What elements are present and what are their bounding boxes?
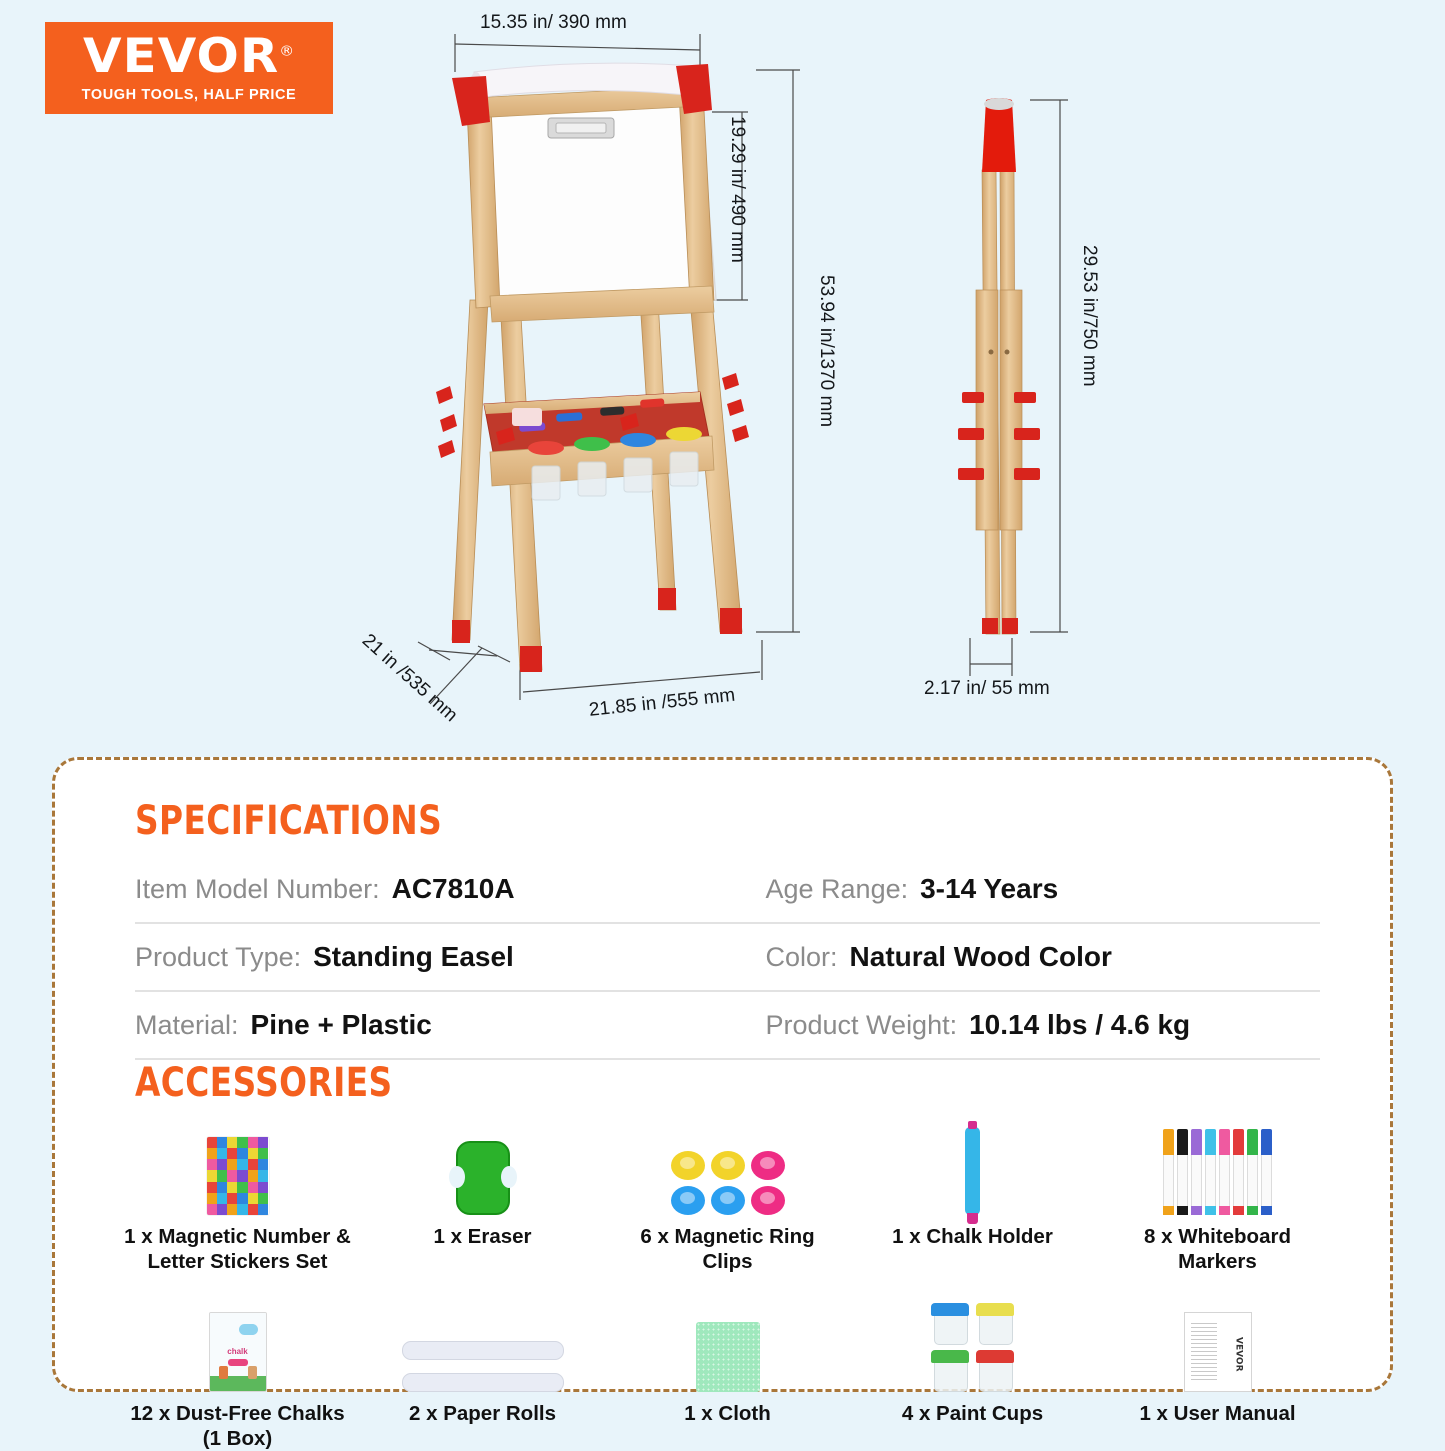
- accessories-row-2: chalk 12 x Dust-Free Chalks (1 Box) 2 x …: [115, 1292, 1340, 1451]
- accessories-heading: ACCESSORIES: [135, 1060, 393, 1106]
- product-dimension-diagram: 15.35 in/ 390 mm 19.29 in/ 490 mm 53.94 …: [0, 0, 1445, 740]
- accessory-label: 1 x Magnetic Number &Letter Stickers Set: [124, 1224, 351, 1274]
- accessory-label: 1 x Chalk Holder: [892, 1224, 1053, 1249]
- spec-cell-model: Item Model Number: AC7810A: [135, 873, 728, 905]
- table-row: Product Type: Standing Easel Color: Natu…: [135, 924, 1320, 992]
- spec-key: Product Type:: [135, 942, 301, 973]
- accessory-label: 2 x Paper Rolls: [409, 1401, 556, 1426]
- spec-cell-weight: Product Weight: 10.14 lbs / 4.6 kg: [728, 1009, 1321, 1041]
- accessory-label: 1 x Cloth: [684, 1401, 771, 1426]
- spec-value: Pine + Plastic: [251, 1009, 432, 1041]
- specifications-table: Item Model Number: AC7810A Age Range: 3-…: [135, 856, 1320, 1060]
- paper-rolls-icon: [402, 1292, 564, 1392]
- paint-cups-icon: [931, 1292, 1014, 1392]
- accessories-row-1: 1 x Magnetic Number &Letter Stickers Set…: [115, 1115, 1340, 1274]
- dimension-board-width: 15.35 in/ 390 mm: [480, 12, 627, 34]
- easel-illustration: [0, 0, 1445, 740]
- accessory-label: 8 x Whiteboard Markers: [1103, 1224, 1333, 1274]
- specifications-panel: SPECIFICATIONS Item Model Number: AC7810…: [52, 757, 1393, 1392]
- dimension-board-height: 19.29 in/ 490 mm: [726, 116, 748, 263]
- table-row: Item Model Number: AC7810A Age Range: 3-…: [135, 856, 1320, 924]
- accessory-label: 1 x Eraser: [433, 1224, 531, 1249]
- spec-cell-color: Color: Natural Wood Color: [728, 941, 1321, 973]
- list-item: 1 x Magnetic Number &Letter Stickers Set: [115, 1115, 360, 1274]
- spec-key: Item Model Number:: [135, 874, 380, 905]
- magnetic-ring-clips-icon: [671, 1115, 785, 1215]
- cloth-icon: [696, 1292, 760, 1392]
- spec-cell-material: Material: Pine + Plastic: [135, 1009, 728, 1041]
- specifications-heading: SPECIFICATIONS: [135, 798, 442, 844]
- dimension-total-height: 53.94 in/1370 mm: [815, 275, 837, 427]
- spec-key: Age Range:: [766, 874, 909, 905]
- list-item: 1 x Eraser: [360, 1115, 605, 1274]
- spec-key: Product Weight:: [766, 1010, 958, 1041]
- sticker-sheet-icon: [207, 1115, 269, 1215]
- chalk-box-icon: chalk: [209, 1292, 267, 1392]
- list-item: VEVOR 1 x User Manual: [1095, 1292, 1340, 1451]
- list-item: 1 x Chalk Holder: [850, 1115, 1095, 1274]
- user-manual-icon: VEVOR: [1184, 1292, 1252, 1392]
- eraser-icon: [456, 1115, 510, 1215]
- product-spec-page: VEVOR® TOUGH TOOLS, HALF PRICE: [0, 0, 1445, 1445]
- list-item: 6 x Magnetic Ring Clips: [605, 1115, 850, 1274]
- list-item: 1 x Cloth: [605, 1292, 850, 1451]
- chalk-holder-icon: [965, 1115, 980, 1215]
- whiteboard-markers-icon: [1163, 1115, 1272, 1215]
- spec-value: AC7810A: [392, 873, 515, 905]
- spec-key: Material:: [135, 1010, 239, 1041]
- table-row: Material: Pine + Plastic Product Weight:…: [135, 992, 1320, 1060]
- spec-cell-product-type: Product Type: Standing Easel: [135, 941, 728, 973]
- list-item: chalk 12 x Dust-Free Chalks (1 Box): [115, 1292, 360, 1451]
- dimension-folded-height: 29.53 in/750 mm: [1078, 245, 1100, 387]
- list-item: 4 x Paint Cups: [850, 1292, 1095, 1451]
- spec-value: 3-14 Years: [920, 873, 1058, 905]
- dimension-folded-thickness: 2.17 in/ 55 mm: [924, 678, 1050, 700]
- accessory-label: 12 x Dust-Free Chalks (1 Box): [123, 1401, 353, 1451]
- manual-brand-text: VEVOR: [1234, 1337, 1244, 1372]
- accessory-label: 6 x Magnetic Ring Clips: [613, 1224, 843, 1274]
- list-item: 8 x Whiteboard Markers: [1095, 1115, 1340, 1274]
- spec-value: Standing Easel: [313, 941, 514, 973]
- spec-cell-age-range: Age Range: 3-14 Years: [728, 873, 1321, 905]
- spec-value: 10.14 lbs / 4.6 kg: [969, 1009, 1190, 1041]
- accessory-label: 1 x User Manual: [1139, 1401, 1295, 1426]
- accessories-grid: 1 x Magnetic Number &Letter Stickers Set…: [115, 1115, 1340, 1451]
- spec-value: Natural Wood Color: [850, 941, 1112, 973]
- list-item: 2 x Paper Rolls: [360, 1292, 605, 1451]
- spec-key: Color:: [766, 942, 838, 973]
- accessory-label: 4 x Paint Cups: [902, 1401, 1043, 1426]
